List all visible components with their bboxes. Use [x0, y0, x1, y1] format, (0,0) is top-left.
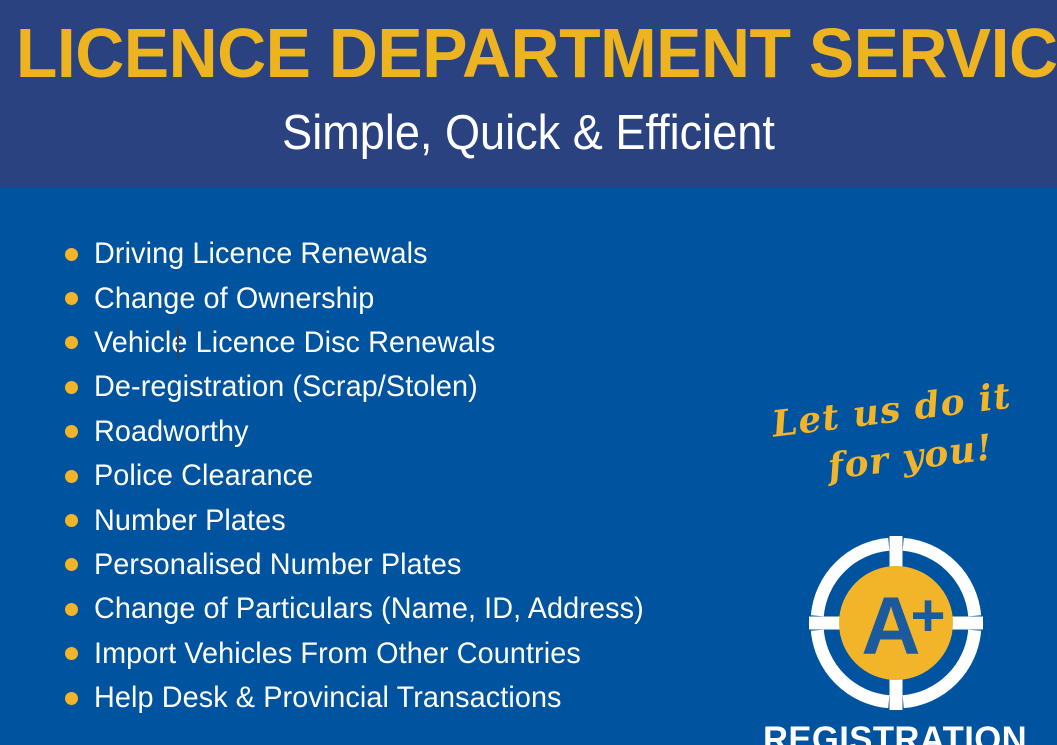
bullet-icon — [65, 647, 78, 660]
list-item[interactable]: Import Vehicles From Other Countries — [60, 632, 740, 676]
list-item[interactable]: De-registration (Scrap/Stolen) — [60, 365, 740, 409]
page-title: LICENCE DEPARTMENT SERVICES — [16, 16, 1041, 90]
list-item[interactable]: Personalised Number Plates — [60, 543, 740, 587]
list-item[interactable]: Change of Ownership — [60, 276, 740, 320]
bullet-icon — [65, 692, 78, 705]
list-item[interactable]: Police Clearance — [60, 454, 740, 498]
services-list: Driving Licence Renewals Change of Owner… — [60, 232, 740, 720]
list-item-label: Change of Ownership — [94, 282, 374, 316]
bullet-icon — [65, 292, 78, 305]
list-item-label: De-registration (Scrap/Stolen) — [94, 370, 478, 404]
bullet-icon — [65, 514, 78, 527]
bullet-icon — [65, 248, 78, 261]
bullet-icon — [65, 336, 78, 349]
list-item-label: Vehicle Licence Disc Renewals — [94, 326, 495, 360]
list-item-label: Driving Licence Renewals — [94, 237, 428, 271]
bullet-icon — [65, 381, 78, 394]
svg-text:+: + — [910, 582, 945, 649]
poster-root: LICENCE DEPARTMENT SERVICES Simple, Quic… — [0, 0, 1057, 745]
list-item-label: Help Desk & Provincial Transactions — [94, 681, 562, 715]
aplus-target-logo-icon: A + — [805, 532, 987, 714]
wordmark-primary: REGISTRATION — [755, 722, 1027, 745]
header-band: LICENCE DEPARTMENT SERVICES Simple, Quic… — [0, 0, 1057, 187]
branding-column: Let us do it for you! — [752, 374, 1057, 745]
page-subtitle: Simple, Quick & Efficient — [42, 104, 1014, 162]
bullet-icon — [65, 558, 78, 571]
list-item[interactable]: Roadworthy — [60, 410, 740, 454]
list-item[interactable]: Change of Particulars (Name, ID, Address… — [60, 587, 740, 631]
list-item-label: Personalised Number Plates — [94, 548, 461, 582]
list-item-label: Number Plates — [94, 504, 286, 538]
body-area: Driving Licence Renewals Change of Owner… — [0, 187, 1057, 745]
tagline-script-text: Let us do it for you! — [747, 369, 1042, 501]
text-cursor-caret — [177, 327, 179, 359]
bullet-icon — [65, 470, 78, 483]
list-item-label: Change of Particulars (Name, ID, Address… — [94, 592, 644, 626]
list-item-label: Import Vehicles From Other Countries — [94, 637, 581, 671]
list-item[interactable]: Driving Licence Renewals — [60, 232, 740, 276]
logo-wordmark: REGISTRATION LICENSE DEPARTMENT SERVICES — [752, 722, 1027, 745]
list-item[interactable]: Help Desk & Provincial Transactions — [60, 676, 740, 720]
bullet-icon — [65, 425, 78, 438]
list-item[interactable]: Vehicle Licence Disc Renewals — [60, 321, 740, 365]
bullet-icon — [65, 603, 78, 616]
list-item[interactable]: Number Plates — [60, 498, 740, 542]
list-item-label: Police Clearance — [94, 459, 313, 493]
list-item-label: Roadworthy — [94, 415, 249, 449]
